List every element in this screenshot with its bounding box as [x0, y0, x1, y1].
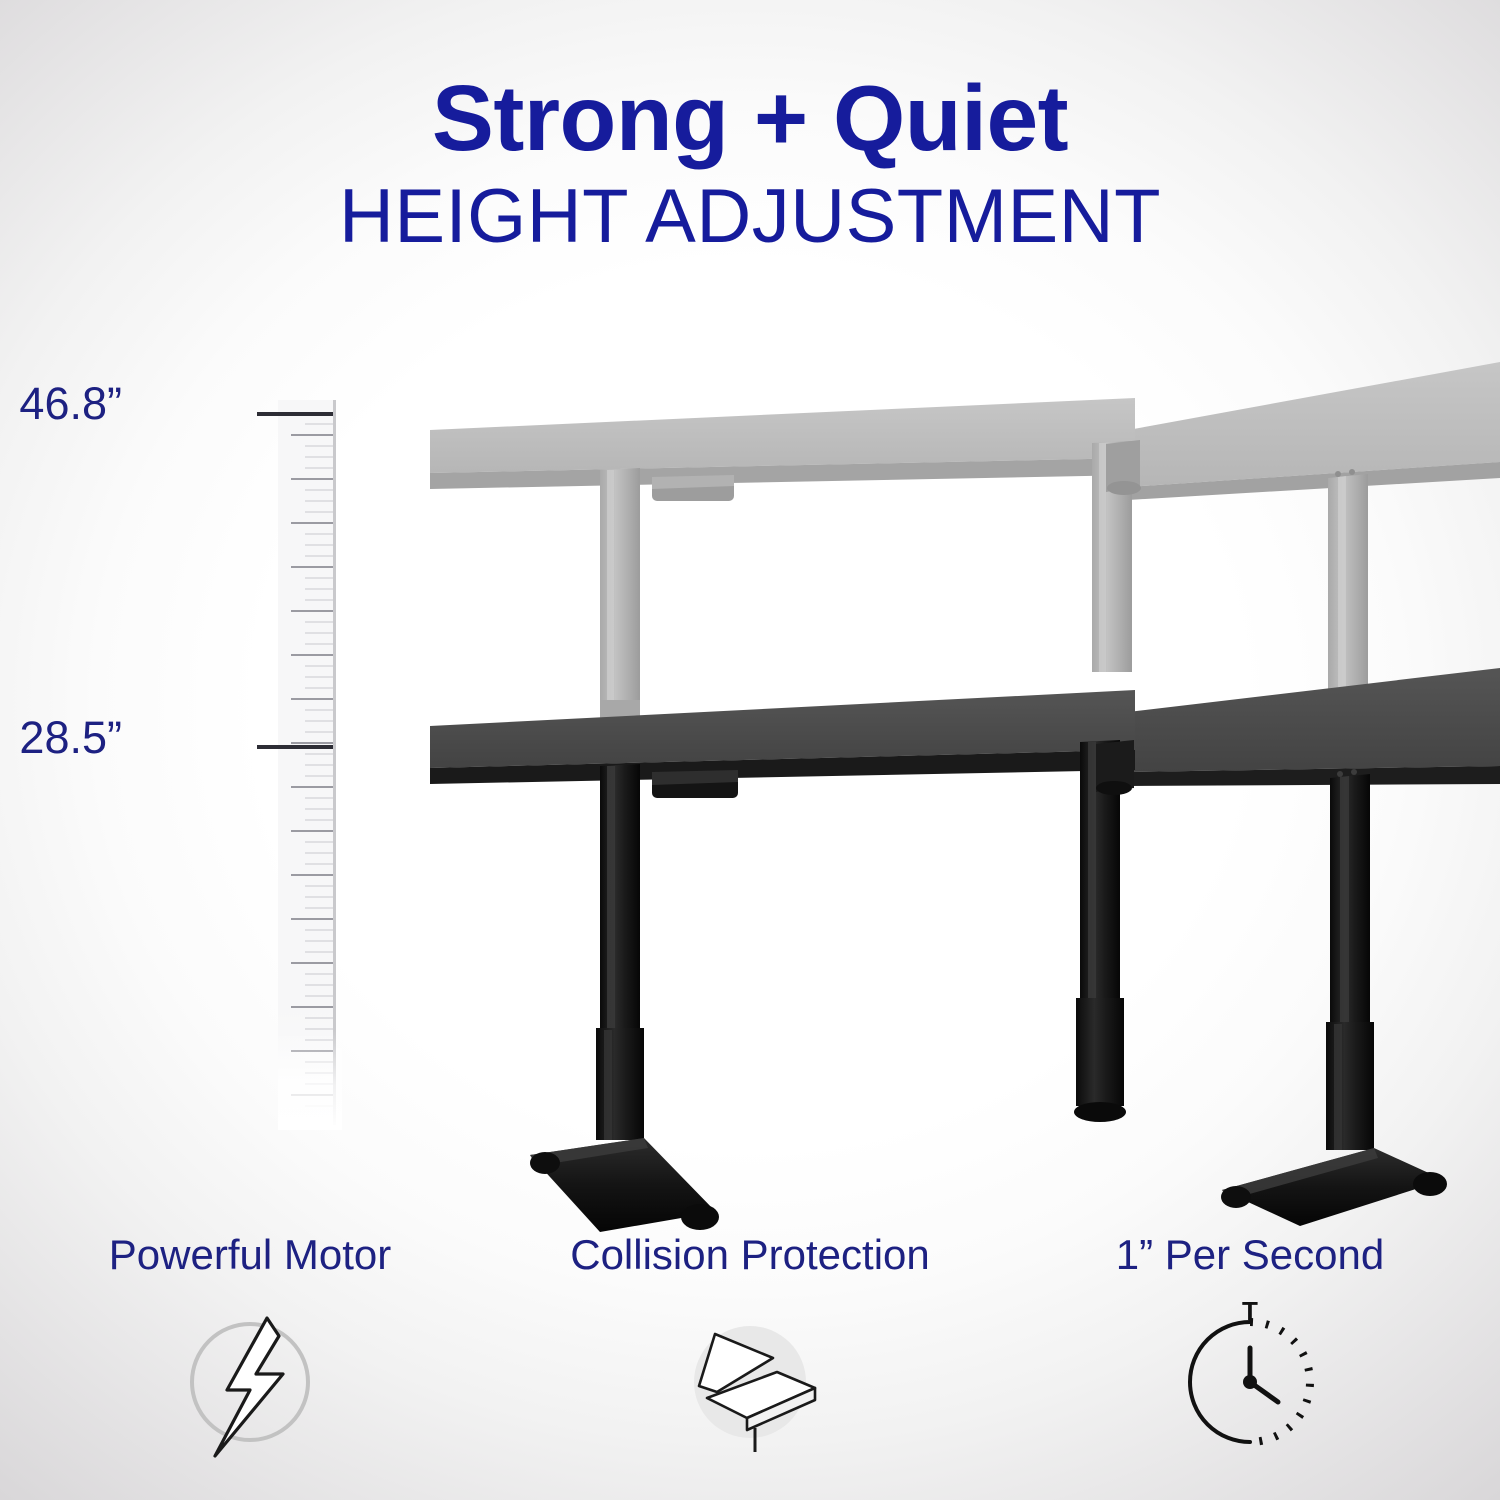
ruler-tick [305, 1105, 333, 1107]
raised-desk-left-leg [600, 468, 640, 740]
ruler-tick [305, 863, 333, 865]
ruler-tick [305, 588, 333, 590]
ruler-tick [291, 1094, 333, 1096]
ruler-tick [305, 665, 333, 667]
ruler-tick [305, 852, 333, 854]
ruler-tick [305, 676, 333, 678]
ruler-tick [305, 621, 333, 623]
feature-label-collision-protection: Collision Protection [570, 1232, 930, 1278]
lowered-desk-left-leg [530, 764, 719, 1232]
clock-speed-icon: T [1155, 1296, 1345, 1466]
ruler-tick [305, 632, 333, 634]
lowered-desk-return-leg [1221, 769, 1447, 1226]
ruler-tick [305, 841, 333, 843]
ruler-tick [305, 797, 333, 799]
ruler-tick [291, 962, 333, 964]
ruler-min-label: 28.5” [19, 712, 122, 764]
lowered-desk-return-edge [1128, 766, 1500, 786]
ruler-tick [305, 1017, 333, 1019]
lowered-desk-black [430, 668, 1500, 1232]
ruler-anchor-max [257, 412, 333, 416]
ruler-tick [305, 819, 333, 821]
ruler-tick [305, 995, 333, 997]
raised-desk-main-edge [430, 458, 1135, 489]
ruler-tick [291, 918, 333, 920]
feature-row: Powerful Motor Collision Protection 1” P… [0, 1232, 1500, 1500]
ruler-tick [305, 973, 333, 975]
ruler-tick [305, 643, 333, 645]
ruler-tick [305, 577, 333, 579]
raised-desk-return-edge [1128, 462, 1500, 500]
ruler-tick [305, 907, 333, 909]
raised-desk-main-top [430, 398, 1135, 473]
height-range-ruler: 46.8” 28.5” [130, 400, 370, 1130]
ruler-tick [305, 489, 333, 491]
ruler-tick [291, 742, 333, 744]
raised-desk-corner-leg [1092, 440, 1141, 672]
desk-collision-icon [655, 1296, 845, 1466]
lowered-desk-main-top [430, 690, 1135, 768]
ruler-strip [278, 400, 336, 1125]
raised-desk-control-panel [652, 477, 734, 501]
ruler-tick [305, 555, 333, 557]
ruler-tick [305, 951, 333, 953]
ruler-tick [305, 511, 333, 513]
ruler-tick [305, 1028, 333, 1030]
ruler-tick [291, 610, 333, 612]
ruler-tick [305, 500, 333, 502]
ruler-tick [305, 731, 333, 733]
feature-powerful-motor: Powerful Motor [0, 1232, 500, 1500]
raised-desk-gray [430, 362, 1500, 740]
ruler-tick [305, 544, 333, 546]
ruler-tick [305, 445, 333, 447]
ruler-tick [305, 896, 333, 898]
ruler-tick [305, 456, 333, 458]
ruler-tick [291, 698, 333, 700]
lowered-desk-return-foot [1222, 1148, 1444, 1226]
ruler-tick [305, 984, 333, 986]
ruler-tick [305, 885, 333, 887]
lowered-desk-corner-leg [1074, 740, 1134, 1122]
ruler-tick [291, 874, 333, 876]
heading-block: Strong + Quiet HEIGHT ADJUSTMENT [0, 72, 1500, 255]
lowered-desk-control-panel [652, 772, 738, 798]
ruler-tick [305, 467, 333, 469]
ruler-tick [291, 434, 333, 436]
raised-desk-return-leg [1328, 469, 1368, 690]
ruler-tick [305, 808, 333, 810]
ruler-tick [305, 1072, 333, 1074]
ruler-tick [291, 830, 333, 832]
lowered-desk-main-edge [430, 750, 1135, 784]
feature-speed: 1” Per Second T [1000, 1232, 1500, 1500]
ruler-tick [291, 786, 333, 788]
ruler-tick [291, 1050, 333, 1052]
ruler-tick [305, 764, 333, 766]
ruler-tick [305, 720, 333, 722]
ruler-tick [305, 1039, 333, 1041]
feature-label-powerful-motor: Powerful Motor [109, 1232, 391, 1278]
ruler-tick [305, 423, 333, 425]
lightning-bolt-icon [155, 1296, 345, 1466]
lowered-desk-return-top [1128, 668, 1500, 772]
lowered-desk-left-foot [530, 1138, 716, 1232]
svg-text:T: T [1242, 1296, 1258, 1326]
ruler-tick [291, 654, 333, 656]
feature-label-speed: 1” Per Second [1116, 1232, 1385, 1278]
ruler-tick [305, 775, 333, 777]
ruler-anchor-min [257, 745, 333, 749]
page-subtitle: HEIGHT ADJUSTMENT [0, 179, 1500, 255]
feature-collision-protection: Collision Protection [500, 1232, 1000, 1500]
ruler-tick [291, 566, 333, 568]
ruler-tick [305, 709, 333, 711]
ruler-tick [291, 478, 333, 480]
infographic-poster: Strong + Quiet HEIGHT ADJUSTMENT [0, 0, 1500, 1500]
ruler-max-label: 46.8” [19, 378, 122, 430]
ruler-tick [305, 687, 333, 689]
ruler-tick [305, 599, 333, 601]
ruler-tick [305, 1061, 333, 1063]
ruler-tick [291, 1006, 333, 1008]
ruler-tick [305, 753, 333, 755]
page-title: Strong + Quiet [0, 72, 1500, 165]
ruler-tick [291, 522, 333, 524]
ruler-tick [305, 533, 333, 535]
raised-desk-return-top [1128, 362, 1500, 487]
ruler-tick [305, 929, 333, 931]
ruler-tick [305, 1083, 333, 1085]
ruler-tick [305, 940, 333, 942]
